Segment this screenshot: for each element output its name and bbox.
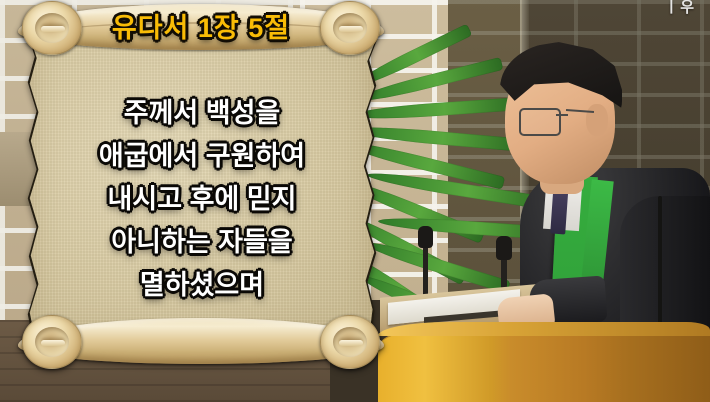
scroll-knob-bottom-left: [22, 315, 82, 369]
verse-line: 내시고 후에 믿지: [30, 178, 374, 221]
video-frame: ㅣ우 유다서 1장 5절 주께서 백성을 애굽에서 구원하여 내시고 후에 믿지…: [0, 0, 710, 402]
channel-watermark: ㅣ우: [664, 0, 696, 17]
scroll-knob-slit: [339, 340, 363, 346]
microphone-head-right: [496, 236, 512, 260]
scripture-reference-banner: 유다서 1장 5절: [18, 2, 384, 48]
verse-line: 주께서 백성을: [30, 92, 374, 135]
pastor-glasses-lens: [519, 108, 561, 136]
scripture-verse-block: 주께서 백성을 애굽에서 구원하여 내시고 후에 믿지 아니하는 자들을 멸하셨…: [30, 92, 374, 307]
pulpit-top-edge: [378, 322, 710, 336]
scroll-knob-slit: [41, 340, 65, 346]
verse-line: 멸하셨으며: [30, 264, 374, 307]
verse-line: 애굽에서 구원하여: [30, 135, 374, 178]
pastor-glasses-bridge: [556, 114, 568, 116]
scripture-reference-text: 유다서 1장 5절: [112, 6, 290, 45]
pastor-ear: [586, 104, 608, 136]
microphone-head-left: [418, 226, 433, 248]
scroll-knob-bottom-right: [320, 315, 380, 369]
verse-line: 아니하는 자들을: [30, 221, 374, 264]
scripture-scroll-overlay: 유다서 1장 5절 주께서 백성을 애굽에서 구원하여 내시고 후에 믿지 아니…: [18, 0, 384, 378]
